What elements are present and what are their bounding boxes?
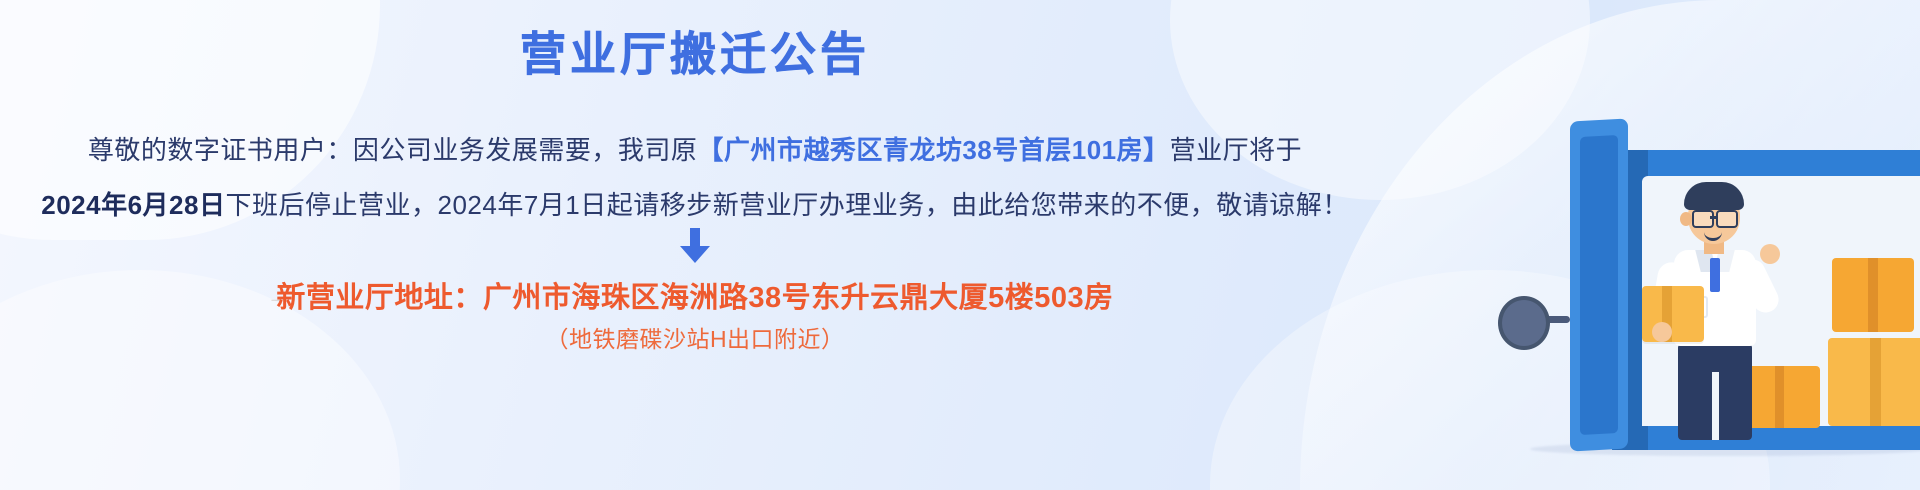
body-line-1-suffix: 营业厅将于 (1170, 135, 1303, 165)
package-box-2 (1828, 338, 1920, 426)
box-tape (1870, 338, 1881, 426)
person-glasses-left-lens (1692, 210, 1714, 228)
box-tape (1868, 258, 1878, 332)
closing-date: 2024年6月28日 (41, 190, 225, 220)
delivery-truck-courier-illustration (1380, 0, 1920, 490)
courier-person (1648, 176, 1788, 440)
body-line-1: 尊敬的数字证书用户：因公司业务发展需要，我司原【广州市越秀区青龙坊38号首层10… (0, 130, 1390, 167)
page-title-text: 营业厅搬迁公告 (520, 28, 870, 80)
new-address-note: （地铁磨碟沙站H出口附近） (0, 320, 1390, 354)
person-ear (1680, 212, 1692, 226)
announcement-banner: 营业厅搬迁公告 尊敬的数字证书用户：因公司业务发展需要，我司原【广州市越秀区青龙… (0, 0, 1920, 490)
person-left-hand (1652, 322, 1672, 342)
person-tie (1710, 258, 1720, 292)
new-address-label: 新营业厅地址： (276, 282, 483, 314)
truck-side-mirror (1498, 296, 1550, 350)
person-right-hand (1760, 244, 1780, 264)
page-title: 营业厅搬迁公告 (514, 26, 876, 84)
body-line-1-prefix: 尊敬的数字证书用户：因公司业务发展需要，我司原 (88, 135, 698, 165)
arrow-down-wrap (0, 228, 1390, 264)
new-address-line: 新营业厅地址：广州市海珠区海洲路38号东升云鼎大厦5楼503房 (0, 274, 1390, 316)
page-title-wrap: 营业厅搬迁公告 (0, 26, 1390, 84)
person-leg-gap (1712, 372, 1719, 440)
new-address-value: 广州市海珠区海洲路38号东升云鼎大厦5楼503房 (483, 282, 1114, 314)
body-line-2-text: 下班后停止营业，2024年7月1日起请移步新营业厅办理业务，由此给您带来的不便，… (225, 190, 1348, 220)
person-glasses-bridge (1710, 216, 1718, 219)
person-glasses-right-lens (1716, 210, 1738, 228)
arrow-down-icon (678, 228, 712, 264)
person-hair (1684, 182, 1744, 210)
body-line-2: 2024年6月28日下班后停止营业，2024年7月1日起请移步新营业厅办理业务，… (0, 185, 1390, 222)
old-address-highlight: 【广州市越秀区青龙坊38号首层101房】 (697, 135, 1169, 165)
package-box-1 (1832, 258, 1914, 332)
announcement-content: 营业厅搬迁公告 尊敬的数字证书用户：因公司业务发展需要，我司原【广州市越秀区青龙… (0, 0, 1390, 490)
truck-rear-door-inner (1580, 135, 1618, 435)
